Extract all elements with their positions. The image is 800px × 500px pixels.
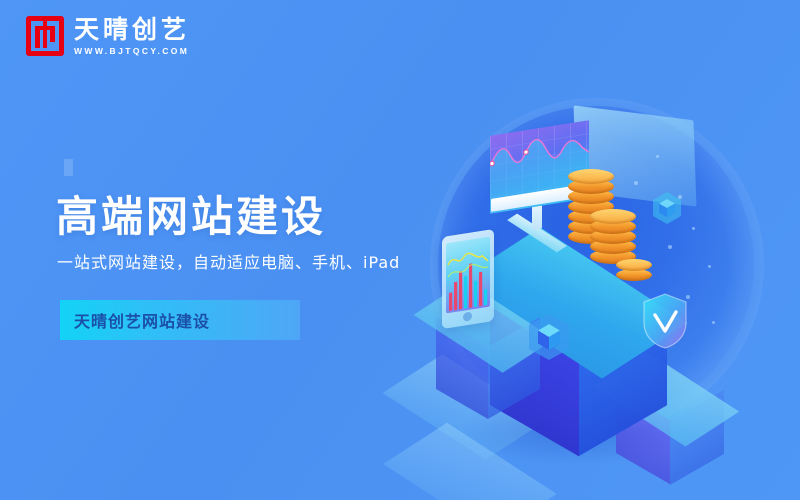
phone-home-button xyxy=(463,311,472,321)
hex-cube-icon xyxy=(652,191,682,230)
page-title: 高端网站建设 xyxy=(56,183,326,244)
decorative-dot xyxy=(692,227,695,230)
decorative-dot xyxy=(712,321,715,324)
hero-banner: 天晴创艺 WWW.BJTQCY.COM 高端网站建设 一站式网站建设，自动适应电… xyxy=(0,0,800,500)
logo-mark-icon xyxy=(26,16,64,56)
security-shield-icon xyxy=(642,293,688,349)
phone-screen xyxy=(446,237,490,314)
cta-button[interactable]: 天晴创艺网站建设 xyxy=(60,300,300,340)
cta-button-label: 天晴创艺网站建设 xyxy=(74,308,210,332)
hero-illustration xyxy=(420,95,790,435)
decorative-dot xyxy=(656,155,659,158)
smartphone-with-chart xyxy=(442,229,494,329)
headline-accent-square xyxy=(64,159,73,176)
site-logo[interactable]: 天晴创艺 WWW.BJTQCY.COM xyxy=(26,16,190,56)
phone-bar-chart xyxy=(446,237,490,314)
logo-website-url: WWW.BJTQCY.COM xyxy=(74,46,190,56)
hero-subtitle: 一站式网站建设，自动适应电脑、手机、iPad xyxy=(57,249,400,273)
hex-cube-icon xyxy=(528,313,570,366)
decorative-dot xyxy=(668,245,672,249)
decorative-dot xyxy=(634,181,638,185)
decorative-dot xyxy=(708,265,711,268)
logo-company-name: 天晴创艺 xyxy=(74,16,190,43)
logo-text-block: 天晴创艺 WWW.BJTQCY.COM xyxy=(74,16,190,56)
